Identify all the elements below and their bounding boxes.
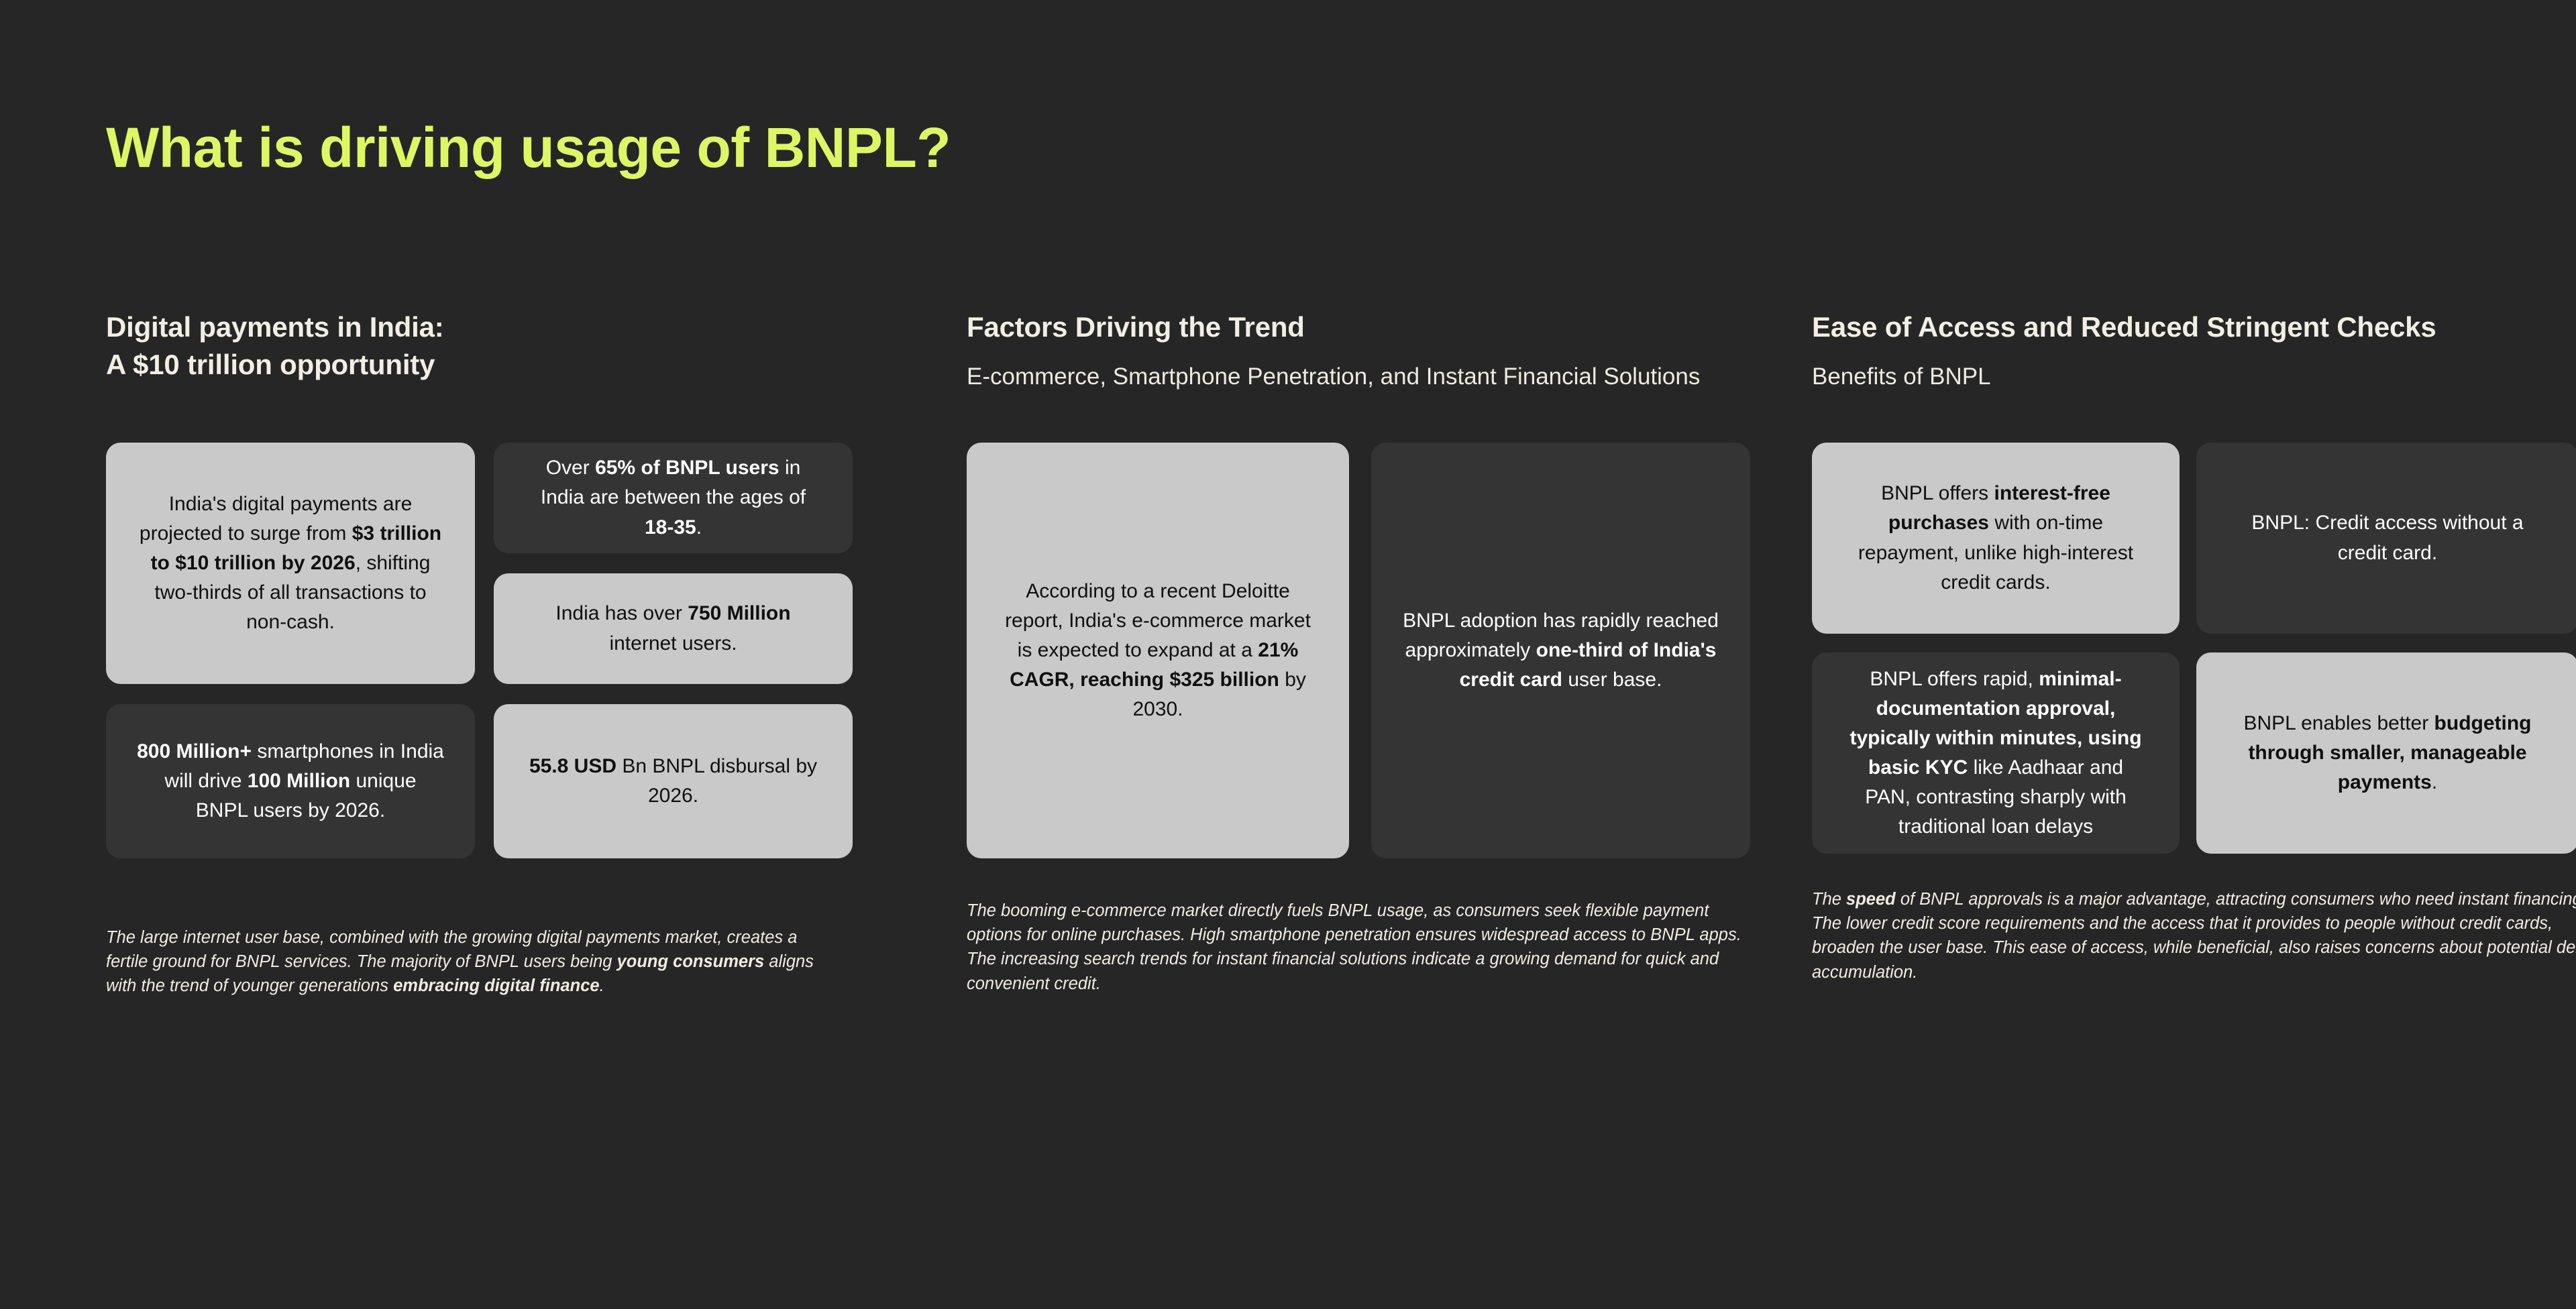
column-1-title-line1: Digital payments in India: <box>106 311 444 343</box>
stat-card-credit-card-base[interactable]: BNPL adoption has rapidly reached approx… <box>1371 443 1750 858</box>
stat-card-deloitte-ecommerce[interactable]: According to a recent Deloitte report, I… <box>967 443 1349 858</box>
benefit-card-budgeting[interactable]: BNPL enables better budgeting through sm… <box>2196 652 2576 854</box>
column-1-footer-note: The large internet user base, combined w… <box>106 925 841 999</box>
column-factors-driving: Factors Driving the Trend E-commerce, Sm… <box>967 308 1755 996</box>
column-1-header: Digital payments in India: A $10 trillio… <box>106 308 844 443</box>
column-3-title: Ease of Access and Reduced Stringent Che… <box>1812 308 2576 346</box>
column-2-title: Factors Driving the Trend <box>967 308 1755 346</box>
column-2-header: Factors Driving the Trend E-commerce, Sm… <box>967 308 1755 443</box>
column-3-footer-note: The speed of BNPL approvals is a major a… <box>1812 887 2576 984</box>
column-3-card-grid: BNPL offers interest-free purchases with… <box>1812 443 2576 854</box>
stat-card-bnpl-age[interactable]: Over 65% of BNPL users in India are betw… <box>494 443 853 553</box>
columns-container: Digital payments in India: A $10 trillio… <box>0 308 2576 999</box>
title-container: What is driving usage of BNPL? <box>106 119 951 176</box>
column-ease-of-access: Ease of Access and Reduced Stringent Che… <box>1812 308 2576 984</box>
column-2-card-grid: According to a recent Deloitte report, I… <box>967 443 1755 858</box>
column-3-header: Ease of Access and Reduced Stringent Che… <box>1812 308 2576 443</box>
stat-card-smartphones[interactable]: 800 Million+ smartphones in India will d… <box>106 704 475 858</box>
column-3-subtitle: Benefits of BNPL <box>1812 361 2576 392</box>
slide-root: What is driving usage of BNPL? Digital p… <box>0 0 2576 1309</box>
stat-card-internet-users[interactable]: India has over 750 Million internet user… <box>494 573 853 684</box>
column-2-subtitle: E-commerce, Smartphone Penetration, and … <box>967 361 1755 392</box>
column-1-title-line2: A $10 trillion opportunity <box>106 349 435 380</box>
column-1-right-stack: Over 65% of BNPL users in India are betw… <box>494 443 853 684</box>
benefit-card-interest-free[interactable]: BNPL offers interest-free purchases with… <box>1812 443 2180 634</box>
column-1-title: Digital payments in India: A $10 trillio… <box>106 308 844 384</box>
column-1-card-grid: India's digital payments are projected t… <box>106 443 844 858</box>
stat-card-digital-payments[interactable]: India's digital payments are projected t… <box>106 443 475 684</box>
page-title: What is driving usage of BNPL? <box>106 119 951 176</box>
column-2-footer-note: The booming e-commerce market directly f… <box>967 899 1755 996</box>
benefit-card-rapid-approval[interactable]: BNPL offers rapid, minimal-documentation… <box>1812 652 2180 854</box>
column-digital-payments: Digital payments in India: A $10 trillio… <box>106 308 844 999</box>
benefit-card-credit-access[interactable]: BNPL: Credit access without a credit car… <box>2196 443 2576 634</box>
stat-card-disbursal[interactable]: 55.8 USD Bn BNPL disbursal by 2026. <box>494 704 853 858</box>
